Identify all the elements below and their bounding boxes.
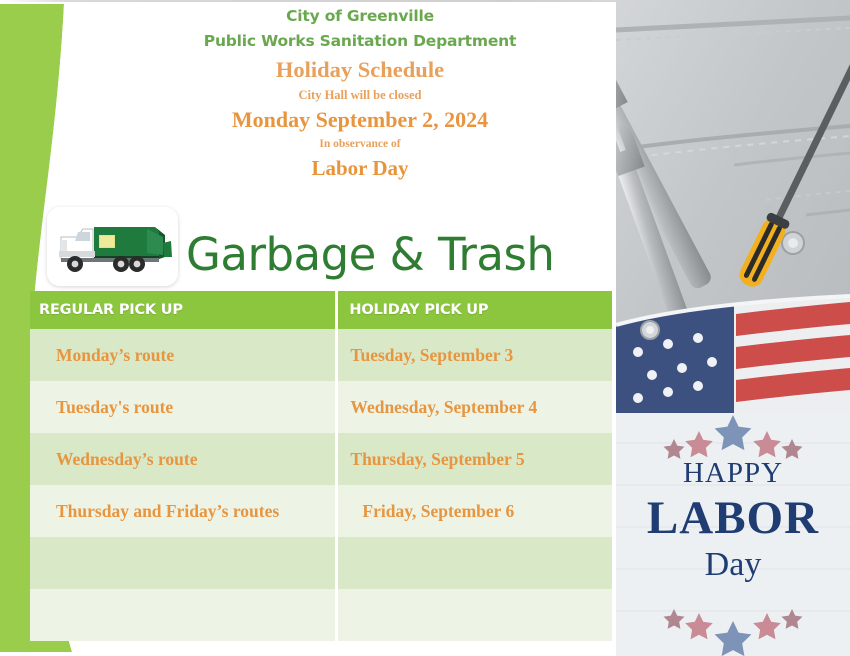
department-name: Public Works Sanitation Department: [120, 28, 600, 55]
labor-day-line-1: HAPPY: [616, 456, 850, 490]
happy-labor-day-sign: HAPPY LABOR Day: [616, 413, 850, 656]
cell-holiday: [338, 589, 612, 641]
garbage-truck-icon: [47, 207, 178, 286]
cell-holiday: Tuesday, September 3: [338, 329, 612, 381]
labor-day-line-2: LABOR: [616, 492, 850, 544]
cell-text: Wednesday, September 4: [338, 397, 537, 418]
flyer-page: City of Greenville Public Works Sanitati…: [0, 0, 850, 656]
tools-flag-photo-graphic: [616, 0, 850, 413]
cell-text: Monday’s route: [30, 345, 174, 366]
labor-day-line-3: Day: [616, 546, 850, 584]
closed-date: Monday September 2, 2024: [120, 105, 600, 135]
table-row: [30, 537, 612, 589]
cell-regular: Tuesday's route: [30, 381, 335, 433]
column-header-regular: REGULAR PICK UP: [30, 291, 335, 329]
closed-notice: City Hall will be closed: [120, 85, 600, 105]
cell-regular: Wednesday’s route: [30, 433, 335, 485]
cell-holiday: [338, 537, 612, 589]
table-row: Monday’s route Tuesday, September 3: [30, 329, 612, 381]
flyer-heading: City of Greenville Public Works Sanitati…: [120, 4, 600, 182]
cell-text: Tuesday's route: [30, 397, 173, 418]
cell-regular: [30, 589, 335, 641]
cell-text: Wednesday’s route: [30, 449, 197, 470]
cell-holiday: Thursday, September 5: [338, 433, 612, 485]
table-row: Tuesday's route Wednesday, September 4: [30, 381, 612, 433]
cell-regular: Monday’s route: [30, 329, 335, 381]
city-name: City of Greenville: [120, 4, 600, 28]
observance-label: In observance of: [120, 135, 600, 154]
table-row: Thursday and Friday’s routes Friday, Sep…: [30, 485, 612, 537]
cell-holiday: Wednesday, September 4: [338, 381, 612, 433]
pickup-schedule-table: REGULAR PICK UP HOLIDAY PICK UP Monday’s…: [30, 291, 612, 641]
cell-text: Tuesday, September 3: [338, 345, 513, 366]
table-row: Wednesday’s route Thursday, September 5: [30, 433, 612, 485]
table-row: [30, 589, 612, 641]
holiday-schedule-title: Holiday Schedule: [120, 55, 600, 85]
cell-holiday: Friday, September 6: [338, 485, 612, 537]
cell-regular: [30, 537, 335, 589]
column-header-holiday: HOLIDAY PICK UP: [338, 291, 612, 329]
cell-regular: Thursday and Friday’s routes: [30, 485, 335, 537]
cell-text: Friday, September 6: [338, 501, 514, 522]
section-title: Garbage & Trash: [186, 228, 554, 281]
garbage-truck-badge: [47, 207, 178, 286]
labor-day-text-block: HAPPY LABOR Day: [616, 413, 850, 656]
table-header-row: REGULAR PICK UP HOLIDAY PICK UP: [30, 291, 612, 329]
tools-flag-photo: [616, 0, 850, 413]
cell-text: Thursday, September 5: [338, 449, 524, 470]
holiday-name: Labor Day: [120, 154, 600, 182]
cell-text: Thursday and Friday’s routes: [30, 501, 279, 522]
